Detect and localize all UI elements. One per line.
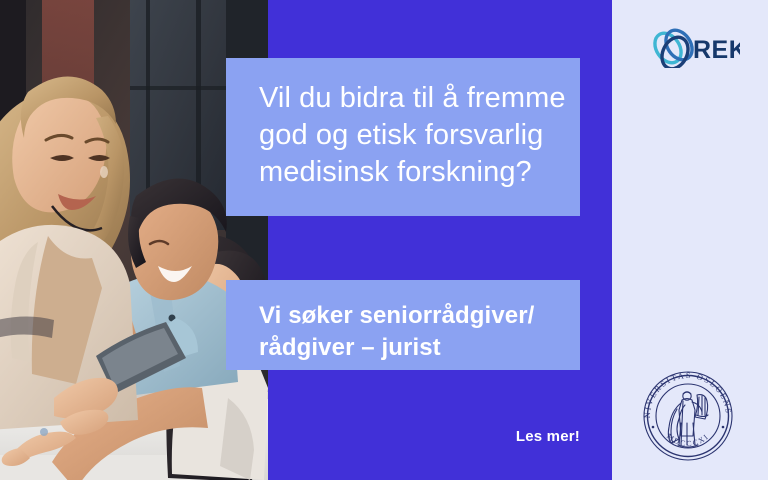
rek-logo: REK: [648, 26, 740, 68]
headline-line-3: medisinsk forskning?: [259, 154, 554, 191]
job-title-line-2: rådgiver – jurist: [259, 332, 554, 364]
headline-line-2: god og etisk forsvarlig: [259, 117, 554, 154]
recruitment-banner: Vil du bidra til å fremme god og etisk f…: [0, 0, 768, 480]
read-more-link[interactable]: Les mer!: [455, 428, 580, 445]
svg-text:REK: REK: [693, 36, 740, 64]
uio-seal: UNIVERSITAS OSLOENSIS MDCCCXI: [637, 365, 739, 467]
job-title-line-1: Vi søker seniorrådgiver/: [259, 300, 554, 332]
job-title-card: Vi søker seniorrådgiver/ rådgiver – juri…: [226, 280, 580, 370]
headline-card: Vil du bidra til å fremme god og etisk f…: [226, 58, 580, 216]
headline-line-1: Vil du bidra til å fremme: [259, 80, 554, 117]
